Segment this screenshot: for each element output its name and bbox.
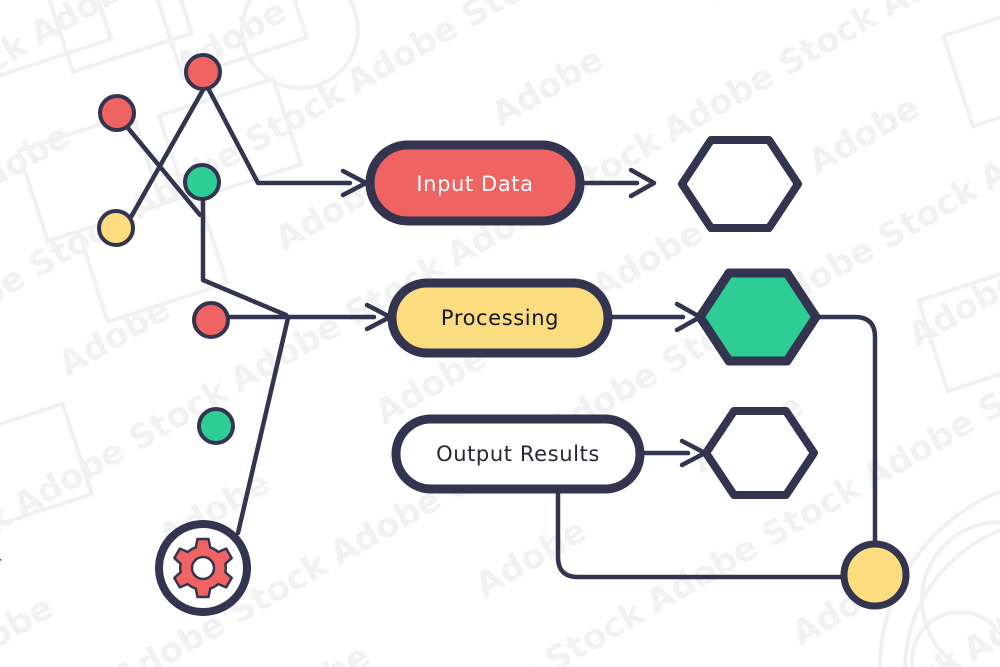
dot-red-top[interactable]: [186, 55, 220, 89]
node-processing[interactable]: Processing: [392, 283, 608, 353]
dot-yellow-right[interactable]: [844, 544, 906, 606]
hexagon-node-bottom[interactable]: [706, 411, 814, 495]
node-input-data-label: Input Data: [416, 172, 533, 196]
node-processing-label: Processing: [441, 306, 559, 330]
dot-red-mid[interactable]: [194, 303, 228, 337]
node-input-data[interactable]: Input Data: [370, 145, 580, 221]
node-output-results-label: Output Results: [436, 442, 600, 466]
dot-yellow-left[interactable]: [99, 211, 133, 245]
dot-red-upper[interactable]: [100, 96, 134, 130]
hexagon-node-top[interactable]: [682, 140, 798, 228]
dot-green-upper[interactable]: [185, 165, 219, 199]
dot-green-lower[interactable]: [199, 409, 233, 443]
hexagon-node-middle[interactable]: [700, 273, 816, 361]
node-output-results[interactable]: Output Results: [396, 419, 640, 489]
watermark-side-text: Adobe Stock | #1876231976: [0, 449, 2, 661]
flowchart-svg: Adobe Stock Adobe Stock: [0, 0, 1000, 667]
diagram-canvas: Adobe Stock Adobe Stock: [0, 0, 1000, 667]
gear-node[interactable]: [159, 524, 247, 612]
